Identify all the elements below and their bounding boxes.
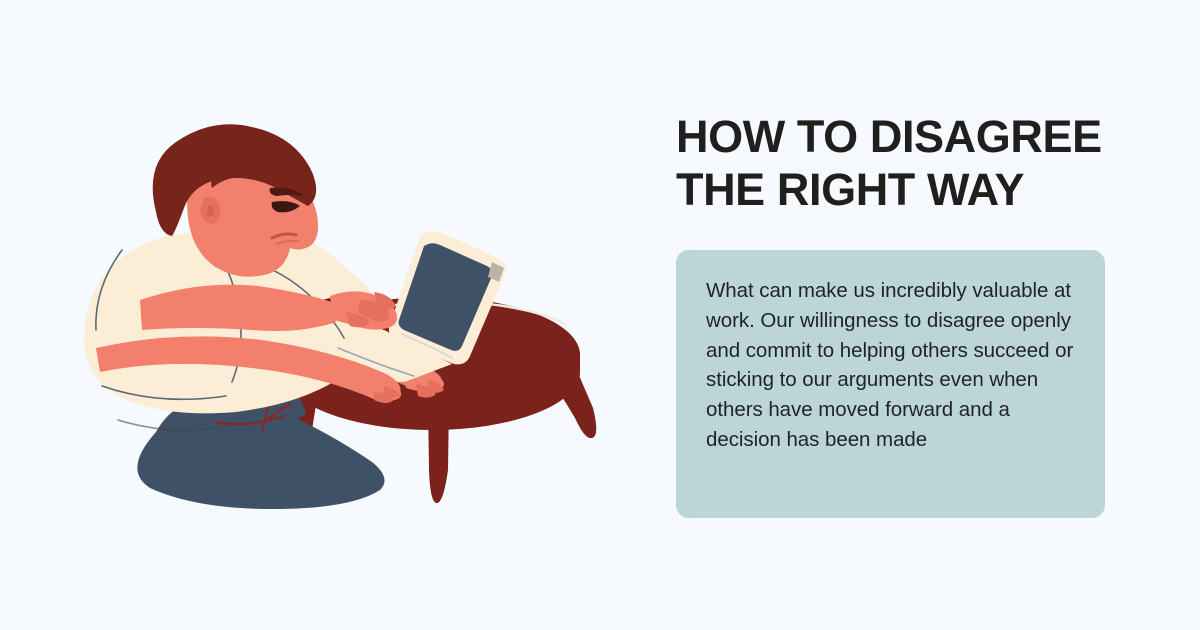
table-leg-front [428,400,449,503]
arm-near [140,285,397,331]
description-text: What can make us incredibly valuable at … [706,276,1078,455]
page-title: HOW TO DISAGREE THE RIGHT WAY [676,110,1106,216]
description-card: What can make us incredibly valuable at … [676,250,1105,518]
illustration-man-with-laptop [0,0,660,630]
poster-canvas: HOW TO DISAGREE THE RIGHT WAY What can m… [0,0,1200,630]
table-leg-right [552,366,596,438]
text-column: HOW TO DISAGREE THE RIGHT WAY What can m… [676,0,1106,630]
